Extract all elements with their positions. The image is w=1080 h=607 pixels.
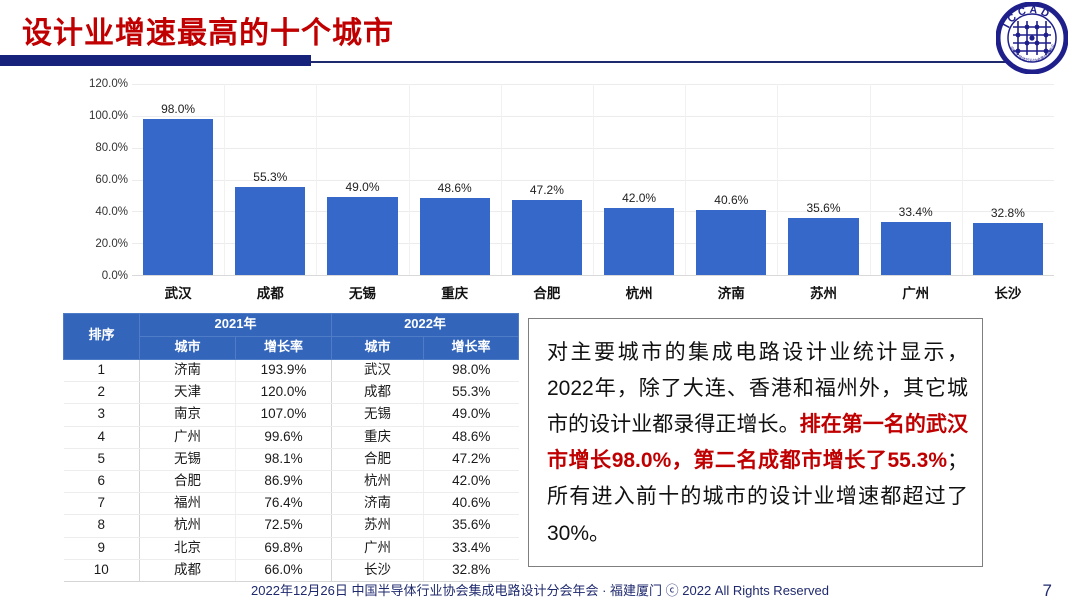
cell-city-2022: 合肥 bbox=[332, 448, 424, 470]
chart-bar-value-label: 48.6% bbox=[409, 181, 501, 195]
chart-plot-area: 98.0%55.3%49.0%48.6%47.2%42.0%40.6%35.6%… bbox=[132, 84, 1054, 276]
table-row[interactable]: 4广州99.6%重庆48.6% bbox=[64, 426, 519, 448]
cell-rank: 2 bbox=[64, 382, 140, 404]
chart-y-tick-label: 0.0% bbox=[62, 270, 128, 282]
cell-growth-2022: 33.4% bbox=[424, 537, 519, 559]
cell-growth-2021: 193.9% bbox=[236, 359, 332, 381]
chart-x-tick-label: 广州 bbox=[870, 282, 962, 302]
chart-bar[interactable] bbox=[327, 197, 397, 275]
cell-growth-2022: 55.3% bbox=[424, 382, 519, 404]
cell-growth-2021: 86.9% bbox=[236, 470, 332, 492]
city-growth-table: 排序 2021年 2022年 城市 增长率 城市 增长率 1济南193.9%武汉… bbox=[63, 313, 519, 582]
cell-growth-2021: 72.5% bbox=[236, 515, 332, 537]
table-header-row-top: 排序 2021年 2022年 bbox=[64, 314, 519, 337]
cell-growth-2021: 107.0% bbox=[236, 404, 332, 426]
cell-city-2022: 成都 bbox=[332, 382, 424, 404]
table-header: 排序 2021年 2022年 城市 增长率 城市 增长率 bbox=[64, 314, 519, 360]
chart-bar-group: 47.2% bbox=[501, 84, 593, 275]
page-title: 设计业增速最高的十个城市 bbox=[22, 8, 394, 52]
header-city-2022: 城市 bbox=[332, 336, 424, 359]
header-growth-2022: 增长率 bbox=[424, 336, 519, 359]
header-rank: 排序 bbox=[64, 314, 140, 360]
chart-x-axis: 武汉成都无锡重庆合肥杭州济南苏州广州长沙 bbox=[132, 278, 1054, 304]
chart-bar-group: 55.3% bbox=[224, 84, 316, 275]
chart-x-tick-label: 合肥 bbox=[501, 282, 593, 302]
title-rule-thick bbox=[0, 55, 311, 66]
cell-rank: 6 bbox=[64, 470, 140, 492]
commentary-box: 对主要城市的集成电路设计业统计显示，2022年，除了大连、香港和福州外，其它城市… bbox=[528, 318, 983, 567]
cell-city-2022: 广州 bbox=[332, 537, 424, 559]
cell-city-2021: 无锡 bbox=[140, 448, 236, 470]
page-number: 7 bbox=[1043, 581, 1052, 601]
table-row[interactable]: 1济南193.9%武汉98.0% bbox=[64, 359, 519, 381]
chart-bar[interactable] bbox=[420, 198, 490, 275]
growth-bar-chart: 0.0%20.0%40.0%60.0%80.0%100.0%120.0% 98.… bbox=[62, 76, 1062, 304]
cell-city-2022: 苏州 bbox=[332, 515, 424, 537]
chart-x-tick-label: 武汉 bbox=[132, 282, 224, 302]
cell-growth-2021: 66.0% bbox=[236, 559, 332, 581]
cell-rank: 5 bbox=[64, 448, 140, 470]
cell-growth-2022: 98.0% bbox=[424, 359, 519, 381]
cell-city-2021: 成都 bbox=[140, 559, 236, 581]
chart-bar-group: 98.0% bbox=[132, 84, 224, 275]
cell-city-2021: 济南 bbox=[140, 359, 236, 381]
cell-city-2021: 天津 bbox=[140, 382, 236, 404]
cell-rank: 10 bbox=[64, 559, 140, 581]
cell-city-2022: 济南 bbox=[332, 493, 424, 515]
cell-city-2021: 杭州 bbox=[140, 515, 236, 537]
cell-city-2022: 重庆 bbox=[332, 426, 424, 448]
cell-city-2021: 广州 bbox=[140, 426, 236, 448]
chart-bar[interactable] bbox=[973, 223, 1043, 275]
chart-x-tick-label: 无锡 bbox=[316, 282, 408, 302]
cell-growth-2021: 98.1% bbox=[236, 448, 332, 470]
iccad-logo: ICCAD 中国半导体行业协会集成电路设计分会 bbox=[996, 2, 1068, 74]
cell-growth-2022: 35.6% bbox=[424, 515, 519, 537]
cell-rank: 3 bbox=[64, 404, 140, 426]
chart-y-tick-label: 20.0% bbox=[62, 238, 128, 250]
cell-rank: 4 bbox=[64, 426, 140, 448]
chart-y-tick-label: 40.0% bbox=[62, 206, 128, 218]
chart-bar-value-label: 35.6% bbox=[777, 201, 869, 215]
header-year-2021: 2021年 bbox=[140, 314, 332, 337]
table-row[interactable]: 10成都66.0%长沙32.8% bbox=[64, 559, 519, 581]
chart-bar[interactable] bbox=[143, 119, 213, 275]
cell-city-2022: 无锡 bbox=[332, 404, 424, 426]
chart-bar-group: 42.0% bbox=[593, 84, 685, 275]
cell-city-2021: 北京 bbox=[140, 537, 236, 559]
cell-growth-2021: 120.0% bbox=[236, 382, 332, 404]
table-body: 1济南193.9%武汉98.0%2天津120.0%成都55.3%3南京107.0… bbox=[64, 359, 519, 581]
chart-x-tick-label: 长沙 bbox=[962, 282, 1054, 302]
cell-growth-2021: 69.8% bbox=[236, 537, 332, 559]
cell-rank: 9 bbox=[64, 537, 140, 559]
chart-bar-group: 33.4% bbox=[870, 84, 962, 275]
footer-text: 2022年12月26日 中国半导体行业协会集成电路设计分会年会 · 福建厦门 ⓒ… bbox=[0, 580, 1080, 599]
table-row[interactable]: 9北京69.8%广州33.4% bbox=[64, 537, 519, 559]
chart-bar[interactable] bbox=[512, 200, 582, 275]
chart-bar-value-label: 55.3% bbox=[224, 170, 316, 184]
chart-bar-value-label: 49.0% bbox=[316, 180, 408, 194]
chart-y-tick-label: 100.0% bbox=[62, 110, 128, 122]
cell-growth-2022: 42.0% bbox=[424, 470, 519, 492]
chart-x-tick-label: 济南 bbox=[685, 282, 777, 302]
chart-x-tick-label: 苏州 bbox=[777, 282, 869, 302]
cell-rank: 8 bbox=[64, 515, 140, 537]
commentary-text: 对主要城市的集成电路设计业统计显示，2022年，除了大连、香港和福州外，其它城市… bbox=[547, 335, 968, 552]
header-year-2022: 2022年 bbox=[332, 314, 519, 337]
table-row[interactable]: 8杭州72.5%苏州35.6% bbox=[64, 515, 519, 537]
chart-bar-value-label: 47.2% bbox=[501, 183, 593, 197]
cell-city-2022: 武汉 bbox=[332, 359, 424, 381]
cell-growth-2022: 48.6% bbox=[424, 426, 519, 448]
chart-bar[interactable] bbox=[235, 187, 305, 275]
chart-x-tick-label: 重庆 bbox=[409, 282, 501, 302]
chart-bar[interactable] bbox=[881, 222, 951, 275]
cell-growth-2021: 76.4% bbox=[236, 493, 332, 515]
table-row[interactable]: 2天津120.0%成都55.3% bbox=[64, 382, 519, 404]
iccad-logo-icon: ICCAD 中国半导体行业协会集成电路设计分会 bbox=[996, 2, 1068, 74]
header-growth-2021: 增长率 bbox=[236, 336, 332, 359]
chart-bar[interactable] bbox=[696, 210, 766, 275]
chart-bar-group: 40.6% bbox=[685, 84, 777, 275]
chart-bar-value-label: 32.8% bbox=[962, 206, 1054, 220]
table-row[interactable]: 6合肥86.9%杭州42.0% bbox=[64, 470, 519, 492]
cell-growth-2021: 99.6% bbox=[236, 426, 332, 448]
chart-bar[interactable] bbox=[788, 218, 858, 275]
chart-x-tick-label: 杭州 bbox=[593, 282, 685, 302]
cell-growth-2022: 32.8% bbox=[424, 559, 519, 581]
table-row[interactable]: 3南京107.0%无锡49.0% bbox=[64, 404, 519, 426]
cell-city-2021: 南京 bbox=[140, 404, 236, 426]
table-row[interactable]: 7福州76.4%济南40.6% bbox=[64, 493, 519, 515]
cell-rank: 1 bbox=[64, 359, 140, 381]
chart-bar-value-label: 42.0% bbox=[593, 191, 685, 205]
chart-bar[interactable] bbox=[604, 208, 674, 275]
cell-city-2022: 长沙 bbox=[332, 559, 424, 581]
cell-city-2021: 合肥 bbox=[140, 470, 236, 492]
chart-bar-group: 35.6% bbox=[777, 84, 869, 275]
chart-bar-group: 49.0% bbox=[316, 84, 408, 275]
table-row[interactable]: 5无锡98.1%合肥47.2% bbox=[64, 448, 519, 470]
chart-x-tick-label: 成都 bbox=[224, 282, 316, 302]
chart-bar-value-label: 98.0% bbox=[132, 102, 224, 116]
cell-growth-2022: 47.2% bbox=[424, 448, 519, 470]
cell-city-2021: 福州 bbox=[140, 493, 236, 515]
chart-bar-group: 32.8% bbox=[962, 84, 1054, 275]
chart-y-tick-label: 120.0% bbox=[62, 78, 128, 90]
cell-rank: 7 bbox=[64, 493, 140, 515]
cell-growth-2022: 40.6% bbox=[424, 493, 519, 515]
chart-y-axis: 0.0%20.0%40.0%60.0%80.0%100.0%120.0% bbox=[62, 84, 128, 276]
cell-growth-2022: 49.0% bbox=[424, 404, 519, 426]
cell-city-2022: 杭州 bbox=[332, 470, 424, 492]
chart-bar-value-label: 33.4% bbox=[870, 205, 962, 219]
chart-bar-value-label: 40.6% bbox=[685, 193, 777, 207]
chart-bar-group: 48.6% bbox=[409, 84, 501, 275]
chart-y-tick-label: 60.0% bbox=[62, 174, 128, 186]
header-city-2021: 城市 bbox=[140, 336, 236, 359]
chart-y-tick-label: 80.0% bbox=[62, 142, 128, 154]
